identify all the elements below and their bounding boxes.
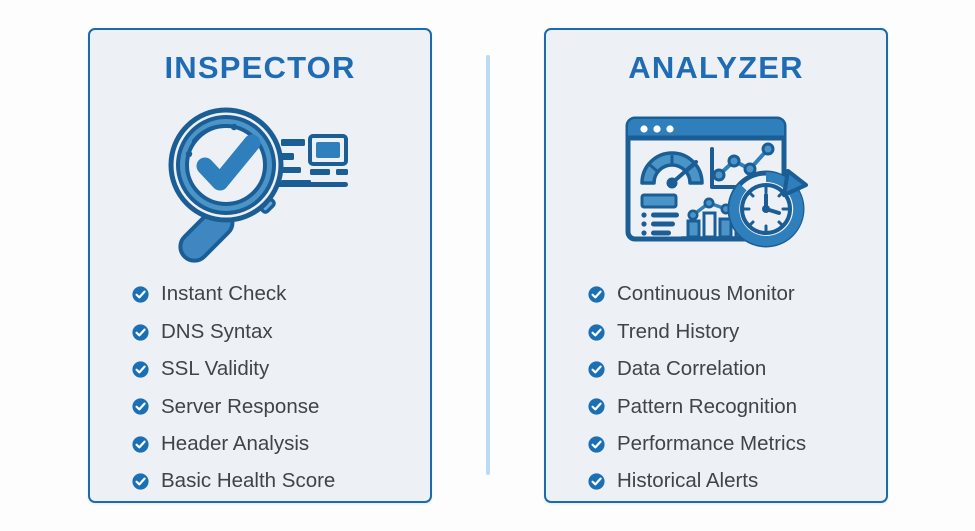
- list-item[interactable]: Continuous Monitor: [588, 276, 866, 313]
- card-title-inspector: INSPECTOR: [90, 52, 430, 83]
- feature-label: Historical Alerts: [617, 471, 758, 492]
- list-item[interactable]: Server Response: [132, 388, 410, 425]
- feature-label: SSL Validity: [161, 359, 269, 380]
- list-item[interactable]: Data Correlation: [588, 351, 866, 388]
- feature-label: Basic Health Score: [161, 471, 335, 492]
- list-item[interactable]: Instant Check: [132, 276, 410, 313]
- check-circle-icon: [588, 361, 605, 378]
- check-circle-icon: [132, 398, 149, 415]
- feature-label: Instant Check: [161, 284, 286, 305]
- comparison-panel: INSPECTOR: [0, 0, 975, 531]
- vertical-divider: [486, 55, 490, 475]
- feature-list-analyzer: Continuous Monitor Trend History Data Co…: [588, 276, 866, 500]
- feature-label: Performance Metrics: [617, 434, 806, 455]
- feature-label: Pattern Recognition: [617, 397, 797, 418]
- card-analyzer: ANALYZER: [544, 28, 888, 503]
- check-circle-icon: [132, 286, 149, 303]
- list-item[interactable]: Basic Health Score: [132, 463, 410, 500]
- check-circle-icon: [132, 473, 149, 490]
- check-circle-icon: [588, 473, 605, 490]
- list-item[interactable]: Trend History: [588, 313, 866, 350]
- card-inspector: INSPECTOR: [88, 28, 432, 503]
- list-item[interactable]: Pattern Recognition: [588, 388, 866, 425]
- list-item[interactable]: Performance Metrics: [588, 426, 866, 463]
- card-title-analyzer: ANALYZER: [546, 52, 886, 83]
- icon-area-analyzer: [546, 100, 886, 270]
- check-circle-icon: [132, 361, 149, 378]
- list-item[interactable]: DNS Syntax: [132, 313, 410, 350]
- feature-label: Continuous Monitor: [617, 284, 795, 305]
- magnifier-check-icon: [160, 103, 360, 268]
- list-item[interactable]: SSL Validity: [132, 351, 410, 388]
- feature-label: Trend History: [617, 322, 739, 343]
- check-circle-icon: [132, 436, 149, 453]
- feature-label: DNS Syntax: [161, 322, 273, 343]
- dashboard-analytics-clock-icon: [616, 105, 816, 265]
- check-circle-icon: [588, 436, 605, 453]
- feature-label: Server Response: [161, 397, 319, 418]
- feature-label: Data Correlation: [617, 359, 766, 380]
- check-circle-icon: [588, 398, 605, 415]
- check-circle-icon: [588, 324, 605, 341]
- feature-list-inspector: Instant Check DNS Syntax SSL Validity: [132, 276, 410, 500]
- list-item[interactable]: Header Analysis: [132, 426, 410, 463]
- list-item[interactable]: Historical Alerts: [588, 463, 866, 500]
- check-circle-icon: [588, 286, 605, 303]
- icon-area-inspector: [90, 100, 430, 270]
- check-circle-icon: [132, 324, 149, 341]
- feature-label: Header Analysis: [161, 434, 309, 455]
